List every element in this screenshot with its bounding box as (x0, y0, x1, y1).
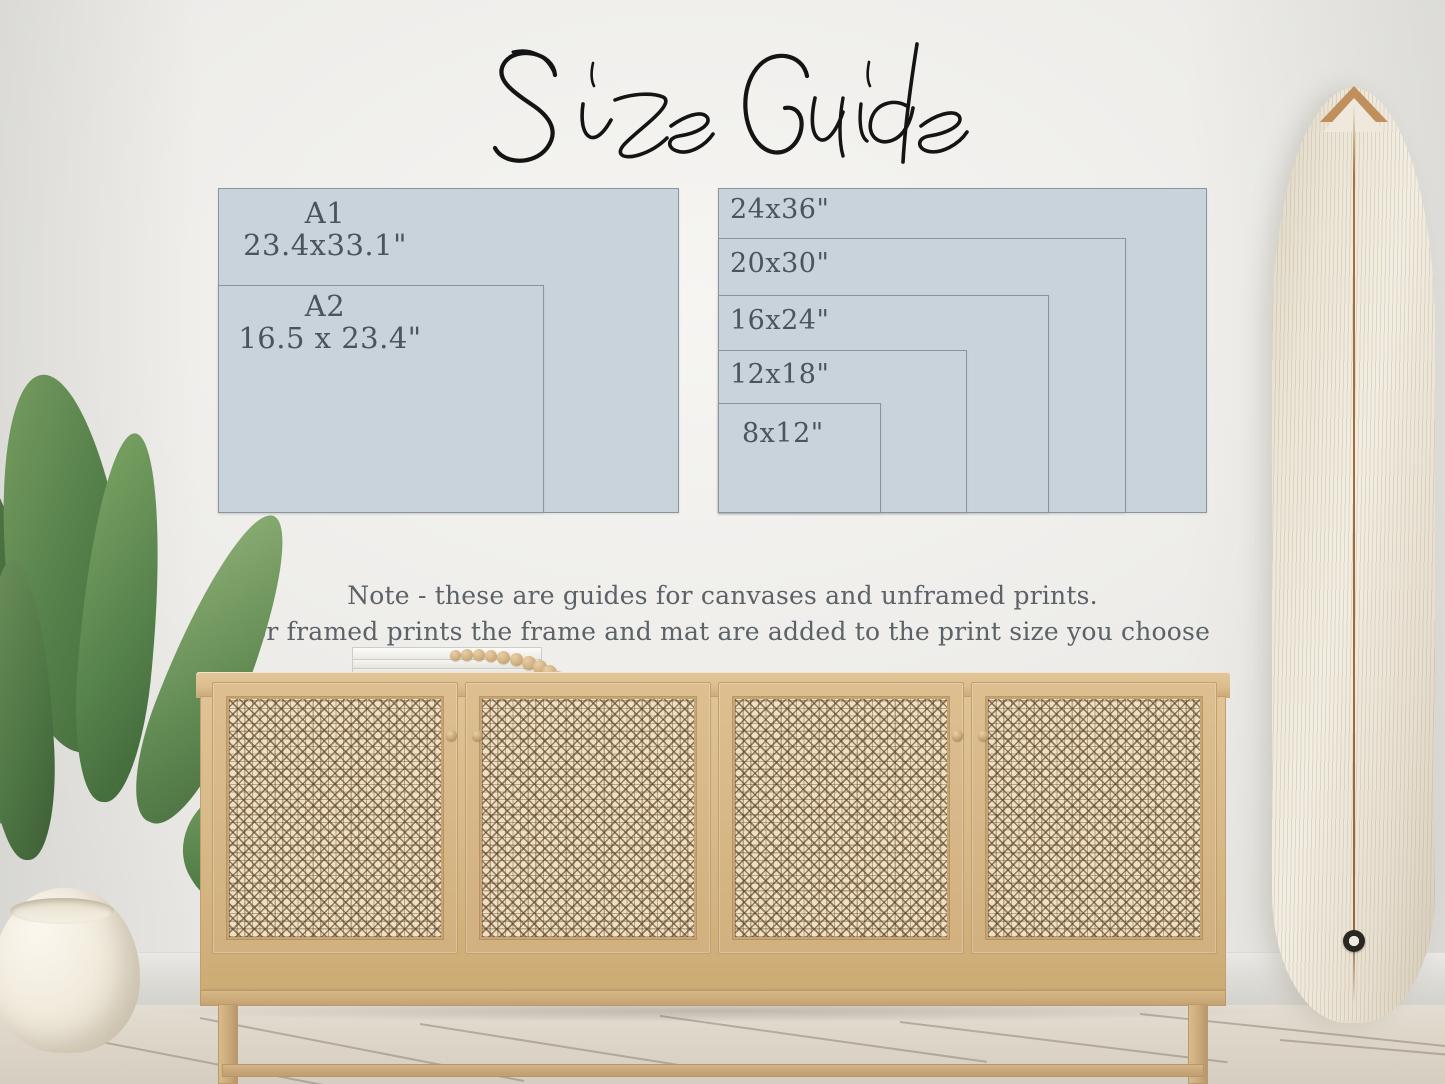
surfboard-stringer (1353, 104, 1355, 1004)
size-label-20x30: 20x30" (730, 248, 829, 279)
door-knob[interactable] (952, 730, 963, 741)
size-label-a1-dimensions: 23.4x33.1" (226, 228, 424, 262)
door-knob[interactable] (978, 730, 989, 741)
plant-pot-rim (10, 898, 114, 924)
size-label-a1-name: A1 (240, 196, 410, 230)
size-label-8x12: 8x12" (742, 418, 824, 449)
sideboard-door[interactable] (718, 682, 964, 954)
cane-panel (986, 697, 1202, 939)
size-label-a2-dimensions: 16.5 x 23.4" (222, 321, 438, 355)
size-label-12x18: 12x18" (730, 359, 829, 390)
door-knob[interactable] (472, 730, 483, 741)
cane-panel (227, 697, 443, 939)
sideboard-door[interactable] (212, 682, 458, 954)
surfboard (1272, 88, 1435, 1023)
size-label-16x24: 16x24" (730, 305, 829, 336)
cane-panel (733, 697, 949, 939)
size-label-a2-name: A2 (240, 289, 410, 323)
door-knob[interactable] (446, 730, 457, 741)
page-title (455, 38, 995, 173)
size-label-24x36: 24x36" (730, 194, 829, 225)
sideboard (196, 672, 1230, 1084)
sideboard-apron (200, 990, 1226, 1006)
size-guide-scene: A1 23.4x33.1" A2 16.5 x 23.4" 24x36" 20x… (0, 0, 1445, 1084)
sideboard-stretcher (222, 1064, 1204, 1077)
surfboard-leash-plug (1343, 930, 1365, 952)
sideboard-door[interactable] (971, 682, 1217, 954)
sideboard-door[interactable] (465, 682, 711, 954)
cane-panel (480, 697, 696, 939)
